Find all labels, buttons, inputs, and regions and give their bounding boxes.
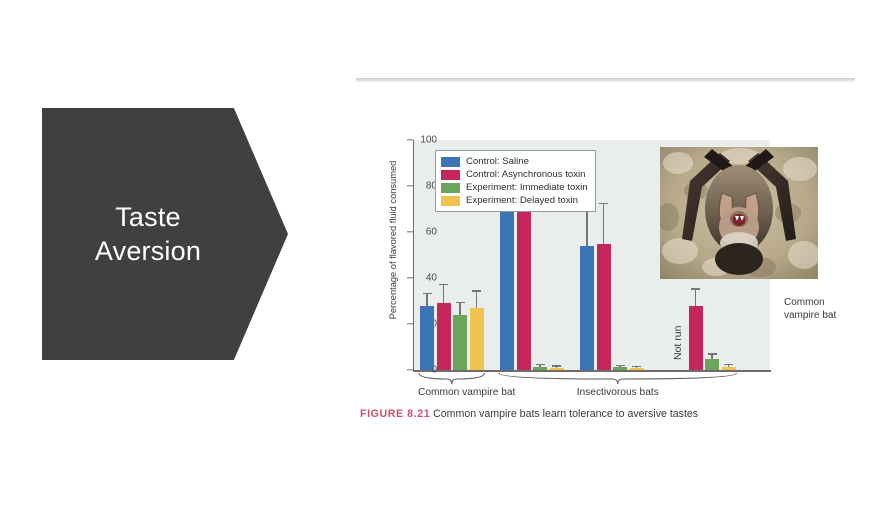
figure-top-rule <box>356 78 855 82</box>
legend-swatch-3 <box>441 196 460 206</box>
y-axis-tick-mark-80 <box>407 185 413 186</box>
bar-3-1 <box>689 306 703 370</box>
error-bar-0-3 <box>476 292 477 308</box>
error-bar-cap-0-3 <box>472 290 481 291</box>
error-bar-cap-0-1 <box>439 284 448 285</box>
group-label-0: Common vampire bat <box>418 387 486 398</box>
chart-legend: Control: SalineControl: Asynchronous tox… <box>435 150 596 212</box>
common-vampire-bat-photo <box>660 147 818 279</box>
y-axis-tick-mark-20 <box>407 323 413 324</box>
figure-number: FIGURE 8.21 <box>360 408 430 420</box>
bar-0-2 <box>453 315 467 370</box>
error-bar-cap-3-3 <box>724 364 733 365</box>
error-bar-cap-2-3 <box>632 366 641 367</box>
bar-2-2 <box>613 367 627 370</box>
bar-chart: Percentage of flavored fluid consumed 02… <box>356 125 856 415</box>
legend-swatch-1 <box>441 170 460 180</box>
y-axis-tick-mark-100 <box>407 139 413 140</box>
bar-1-2 <box>533 367 547 370</box>
legend-item-3: Experiment: Delayed toxin <box>441 194 588 207</box>
group-brace-1 <box>498 373 738 384</box>
figure-caption-text: Common vampire bats learn tolerance to a… <box>433 408 698 420</box>
photo-caption: Common vampire bat <box>784 297 836 323</box>
error-bar-0-1 <box>443 285 444 303</box>
photo-caption-line-2: vampire bat <box>784 310 836 323</box>
error-bar-0-2 <box>459 303 460 315</box>
bar-0-0 <box>420 306 434 370</box>
annotation-not-run: Not run <box>672 326 684 360</box>
legend-swatch-0 <box>441 157 460 167</box>
bar-2-3 <box>630 368 644 370</box>
error-bar-1-2 <box>539 365 540 366</box>
legend-label-3: Experiment: Delayed toxin <box>466 195 578 206</box>
slide-canvas: Taste Aversion Percentage of flavored fl… <box>0 0 896 506</box>
error-bar-2-3 <box>636 367 637 368</box>
error-bar-1-3 <box>556 367 557 368</box>
error-bar-cap-3-1 <box>691 288 700 289</box>
y-axis-tick-mark-0 <box>407 369 413 370</box>
error-bar-cap-2-2 <box>616 365 625 366</box>
bar-2-0 <box>580 246 594 370</box>
group-brace-0 <box>418 373 486 384</box>
error-bar-2-2 <box>619 366 620 367</box>
legend-swatch-2 <box>441 183 460 193</box>
bar-1-0 <box>500 200 514 370</box>
figure-caption: FIGURE 8.21 Common vampire bats learn to… <box>360 408 854 421</box>
legend-label-2: Experiment: Immediate toxin <box>466 182 588 193</box>
x-axis-line <box>413 370 771 372</box>
page-title-line-2: Aversion <box>95 234 201 268</box>
bar-0-1 <box>437 303 451 370</box>
error-bar-cap-2-1 <box>599 203 608 204</box>
title-arrow-shape: Taste Aversion <box>42 108 288 360</box>
bar-1-1 <box>517 198 531 371</box>
error-bar-cap-1-2 <box>536 364 545 365</box>
photo-caption-line-1: Common <box>784 297 836 310</box>
error-bar-cap-0-0 <box>423 293 432 294</box>
legend-item-2: Experiment: Immediate toxin <box>441 181 588 194</box>
bar-3-3 <box>722 367 736 370</box>
error-bar-0-0 <box>426 294 427 306</box>
legend-label-1: Control: Asynchronous toxin <box>466 169 585 180</box>
y-axis-tick-mark-60 <box>407 231 413 232</box>
page-title-line-1: Taste <box>95 200 201 234</box>
page-title: Taste Aversion <box>95 200 201 268</box>
bar-0-3 <box>470 308 484 370</box>
bar-2-1 <box>597 244 611 371</box>
bar-1-3 <box>550 368 564 370</box>
error-bar-3-2 <box>711 355 712 359</box>
bar-3-2 <box>705 359 719 371</box>
legend-item-1: Control: Asynchronous toxin <box>441 168 588 181</box>
legend-item-0: Control: Saline <box>441 155 588 168</box>
legend-label-0: Control: Saline <box>466 156 529 167</box>
error-bar-3-1 <box>695 290 696 306</box>
error-bar-cap-1-3 <box>552 365 561 366</box>
y-axis-tick-mark-40 <box>407 277 413 278</box>
error-bar-cap-0-2 <box>456 302 465 303</box>
error-bar-2-1 <box>603 204 604 243</box>
error-bar-3-3 <box>728 365 729 366</box>
figure-panel: Percentage of flavored fluid consumed 02… <box>356 70 856 430</box>
error-bar-2-0 <box>586 207 587 246</box>
group-label-1: Insectivorous bats <box>498 387 738 398</box>
error-bar-cap-3-2 <box>708 353 717 354</box>
